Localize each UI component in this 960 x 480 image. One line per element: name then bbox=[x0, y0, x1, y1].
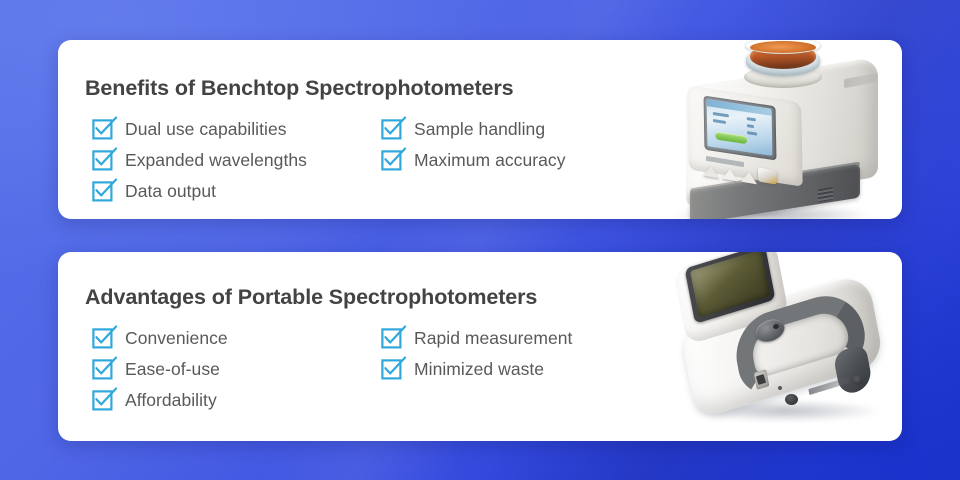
benchtop-screen-value-line bbox=[747, 124, 754, 128]
portable-card-content: Advantages of Portable Spectrophotometer… bbox=[85, 252, 685, 441]
benchtop-list-column-1: Dual use capabilities Expanded wavelengt… bbox=[93, 115, 307, 208]
benchtop-screen-text-line bbox=[713, 112, 729, 117]
list-item-label: Minimized waste bbox=[414, 359, 544, 380]
benchtop-display-screen bbox=[707, 99, 773, 156]
list-item-label: Sample handling bbox=[414, 119, 545, 140]
list-item-label: Data output bbox=[125, 181, 216, 202]
benchtop-enter-key bbox=[758, 167, 777, 184]
checkbox-checked-icon[interactable] bbox=[93, 181, 114, 202]
list-item[interactable]: Ease-of-use bbox=[93, 355, 228, 383]
benefits-benchtop-card: Benefits of Benchtop Spectrophotometers … bbox=[58, 40, 902, 219]
page-title: Benefits of Benchtop Spectrophotometers bbox=[85, 76, 514, 101]
checkbox-checked-icon[interactable] bbox=[93, 150, 114, 171]
benchtop-list-column-2: Sample handling Maximum accuracy bbox=[382, 115, 566, 177]
portable-indicator-led bbox=[778, 386, 782, 390]
benchtop-card-content: Benefits of Benchtop Spectrophotometers … bbox=[85, 40, 685, 219]
benchtop-spectrophotometer-photo bbox=[646, 40, 902, 219]
list-item-label: Affordability bbox=[125, 390, 217, 411]
page-title: Advantages of Portable Spectrophotometer… bbox=[85, 285, 537, 310]
list-item-label: Dual use capabilities bbox=[125, 119, 287, 140]
checkbox-checked-icon[interactable] bbox=[93, 119, 114, 140]
list-item-label: Ease-of-use bbox=[125, 359, 220, 380]
benchtop-screen-text-line bbox=[713, 119, 726, 124]
list-item[interactable]: Sample handling bbox=[382, 115, 566, 143]
list-item-label: Rapid measurement bbox=[414, 328, 572, 349]
list-item-label: Maximum accuracy bbox=[414, 150, 566, 171]
advantages-portable-card: Advantages of Portable Spectrophotometer… bbox=[58, 252, 902, 441]
list-item[interactable]: Rapid measurement bbox=[382, 324, 572, 352]
portable-list-column-1: Convenience Ease-of-use bbox=[93, 324, 228, 417]
checkbox-checked-icon[interactable] bbox=[93, 390, 114, 411]
benchtop-screen-status-bar bbox=[715, 131, 747, 144]
checkbox-checked-icon[interactable] bbox=[93, 359, 114, 380]
portable-foot-front bbox=[785, 394, 798, 405]
benchtop-screen-value-line bbox=[747, 131, 757, 136]
portable-spectrophotometer-photo bbox=[660, 252, 902, 441]
checkbox-checked-icon[interactable] bbox=[382, 359, 403, 380]
checkbox-checked-icon[interactable] bbox=[382, 150, 403, 171]
checkbox-checked-icon[interactable] bbox=[93, 328, 114, 349]
list-item[interactable]: Affordability bbox=[93, 386, 228, 414]
list-item-label: Convenience bbox=[125, 328, 228, 349]
benchtop-vent-grille bbox=[818, 187, 833, 202]
checkbox-checked-icon[interactable] bbox=[382, 328, 403, 349]
portable-foot-rear bbox=[852, 375, 863, 385]
list-item[interactable]: Dual use capabilities bbox=[93, 115, 307, 143]
list-item[interactable]: Minimized waste bbox=[382, 355, 572, 383]
list-item[interactable]: Data output bbox=[93, 177, 307, 205]
list-item[interactable]: Convenience bbox=[93, 324, 228, 352]
checkbox-checked-icon[interactable] bbox=[382, 119, 403, 140]
list-item[interactable]: Expanded wavelengths bbox=[93, 146, 307, 174]
list-item[interactable]: Maximum accuracy bbox=[382, 146, 566, 174]
benchtop-screen-value-line bbox=[747, 117, 756, 121]
portable-list-column-2: Rapid measurement Minimized waste bbox=[382, 324, 572, 386]
list-item-label: Expanded wavelengths bbox=[125, 150, 307, 171]
